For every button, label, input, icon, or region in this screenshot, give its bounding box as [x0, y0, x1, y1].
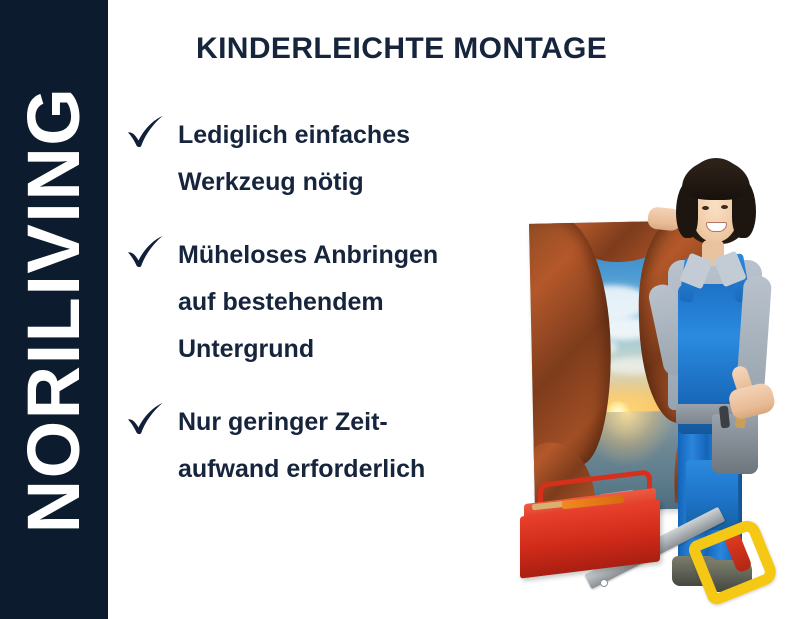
list-item: Lediglich einfaches Werkzeug nötig: [126, 112, 526, 206]
list-item-text: Müheloses Anbringen auf bestehendem Unte…: [178, 232, 526, 373]
list-item-line: Untergrund: [178, 326, 526, 373]
list-item-line: Werkzeug nötig: [178, 159, 526, 206]
brand-band: NORILIVING: [0, 0, 108, 619]
checkmark-icon: [126, 235, 168, 269]
list-item-line: Nur geringer Zeit-: [178, 399, 526, 446]
product-photo: [500, 108, 799, 619]
checkmark-icon: [126, 115, 168, 149]
list-item-line: Lediglich einfaches: [178, 112, 526, 159]
eye: [721, 205, 728, 209]
hair: [682, 160, 750, 200]
eye: [702, 206, 709, 210]
feature-list: Lediglich einfaches Werkzeug nötig Mühel…: [126, 112, 526, 493]
list-item-line: Müheloses Anbringen: [178, 232, 526, 279]
list-item-line: auf bestehendem: [178, 279, 526, 326]
list-item: Müheloses Anbringen auf bestehendem Unte…: [126, 232, 526, 373]
list-item-text: Nur geringer Zeit- aufwand erforderlich: [178, 399, 526, 493]
checkmark-icon: [126, 402, 168, 436]
promo-banner: NORILIVING KINDERLEICHTE MONTAGE Ledigli…: [0, 0, 799, 619]
brand-name: NORILIVING: [17, 86, 91, 533]
list-item: Nur geringer Zeit- aufwand erforderlich: [126, 399, 526, 493]
list-item-line: aufwand erforderlich: [178, 446, 526, 493]
list-item-text: Lediglich einfaches Werkzeug nötig: [178, 112, 526, 206]
toolbox-icon: [514, 474, 674, 584]
page-title: KINDERLEICHTE MONTAGE: [196, 32, 666, 65]
